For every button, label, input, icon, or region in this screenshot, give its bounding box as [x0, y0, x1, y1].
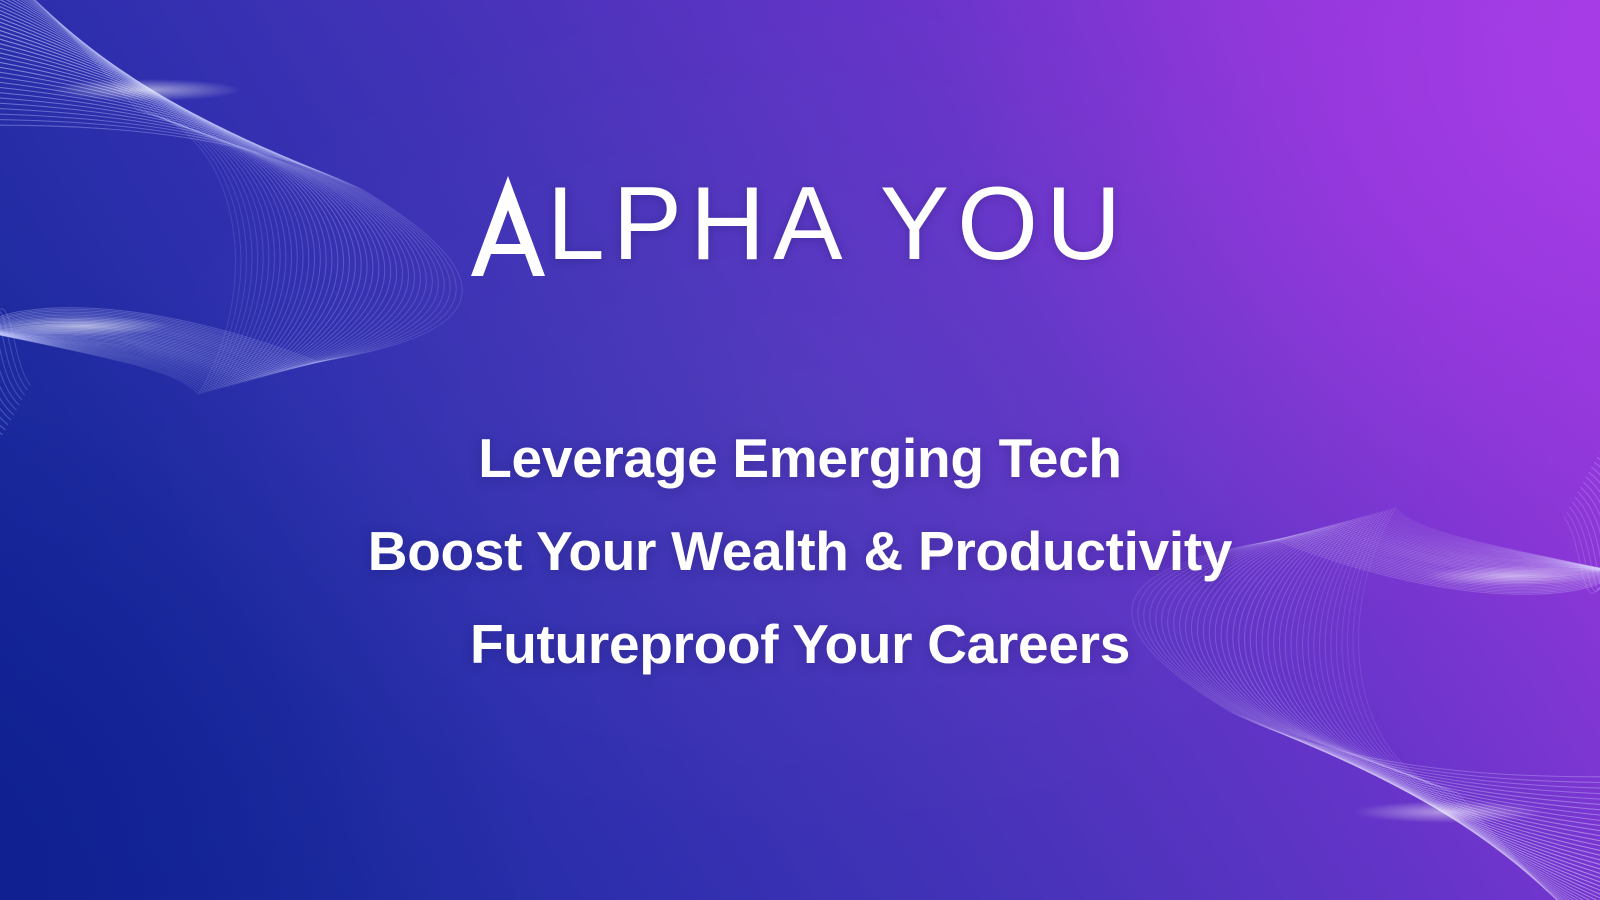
brand-logo-text: LPHA YOU	[547, 172, 1129, 276]
headline-line-3: Futureproof Your Careers	[470, 598, 1130, 691]
alpha-a-monogram	[471, 176, 545, 276]
banner-content: LPHA YOU Leverage Emerging Tech Boost Yo…	[0, 0, 1600, 900]
promotional-banner: LPHA YOU Leverage Emerging Tech Boost Yo…	[0, 0, 1600, 900]
headline-line-2: Boost Your Wealth & Productivity	[368, 505, 1232, 598]
headline-line-1: Leverage Emerging Tech	[478, 412, 1121, 505]
headline-block: Leverage Emerging Tech Boost Your Wealth…	[368, 412, 1232, 691]
brand-logo: LPHA YOU	[471, 166, 1129, 276]
